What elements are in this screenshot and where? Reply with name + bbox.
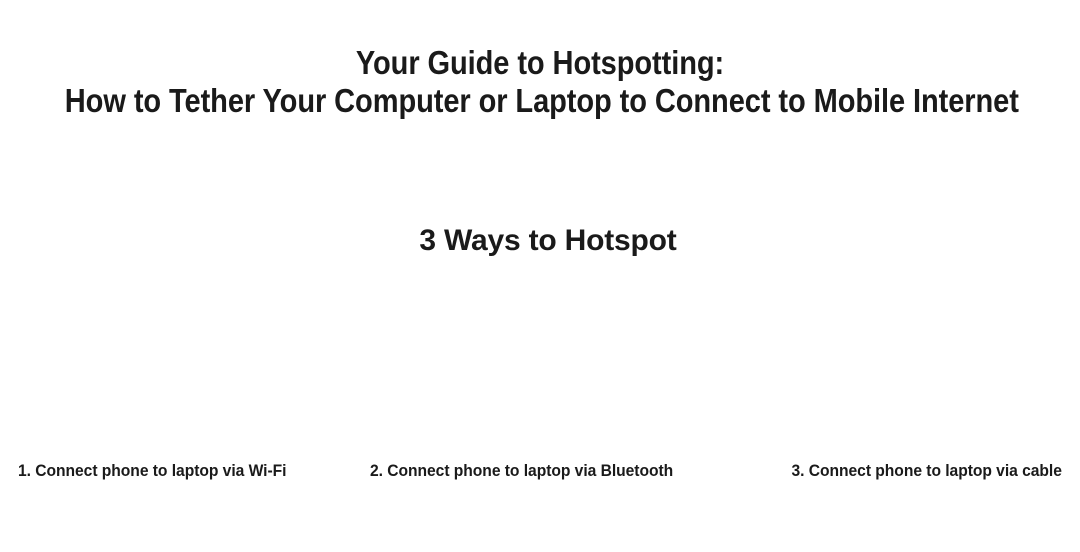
page-title-line-2: How to Tether Your Computer or Laptop to…: [65, 82, 1015, 120]
method-caption-wifi: 1. Connect phone to laptop via Wi-Fi: [18, 460, 286, 482]
phone-to-laptop-wifi-illustration: [18, 286, 318, 460]
methods-row: 1. Connect phone to laptop via Wi-Fi 2. …: [0, 286, 1080, 518]
method-caption-bluetooth: 2. Connect phone to laptop via Bluetooth: [370, 460, 673, 482]
page-title-line-1: Your Guide to Hotspotting:: [65, 44, 1015, 82]
method-item-wifi: 1. Connect phone to laptop via Wi-Fi: [18, 286, 318, 518]
section-heading: 3 Ways to Hotspot: [0, 223, 1080, 259]
phone-to-laptop-cable-illustration: [762, 286, 1062, 460]
phone-to-laptop-bluetooth-illustration: [370, 286, 710, 460]
infographic-page: Your Guide to Hotspotting: How to Tether…: [0, 0, 1080, 552]
method-item-bluetooth: 2. Connect phone to laptop via Bluetooth: [370, 286, 710, 518]
section-heading-text: 3 Ways to Hotspot: [419, 223, 676, 259]
page-title: Your Guide to Hotspotting: How to Tether…: [0, 44, 1080, 120]
method-caption-cable: 3. Connect phone to laptop via cable: [792, 460, 1062, 482]
method-item-cable: 3. Connect phone to laptop via cable: [762, 286, 1062, 518]
